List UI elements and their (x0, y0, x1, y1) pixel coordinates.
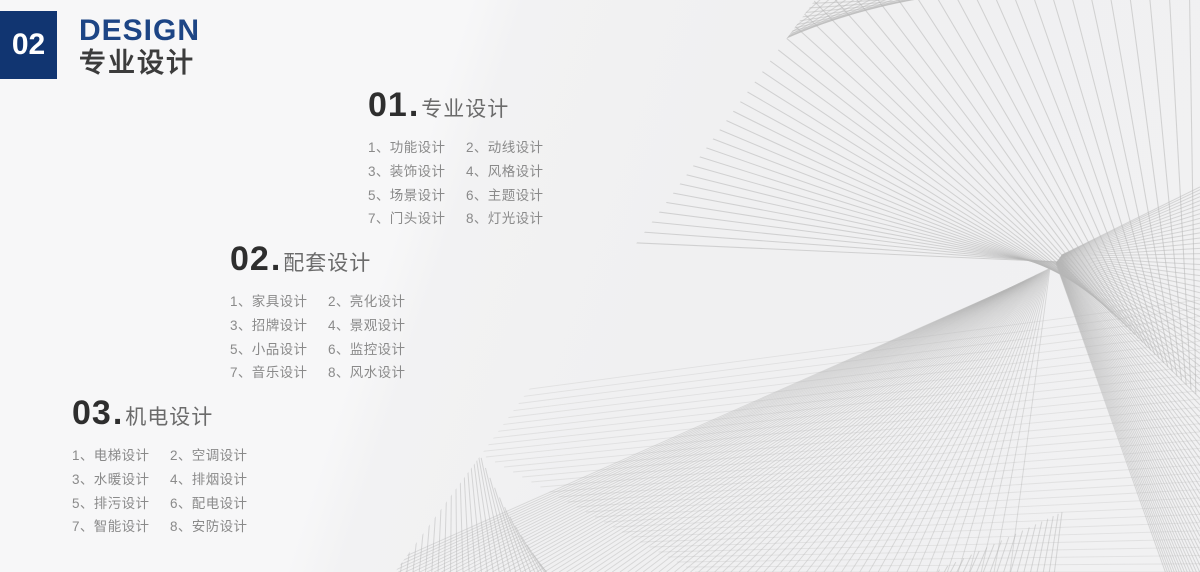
section-03-item-list: 1、电梯设计 2、空调设计 3、水暖设计 4、排烟设计 5、排污设计 6、配电设… (72, 444, 247, 539)
list-item: 5、场景设计 6、主题设计 (368, 184, 543, 208)
section-01-item-list: 1、功能设计 2、动线设计 3、装饰设计 4、风格设计 5、场景设计 6、主题设… (368, 136, 543, 231)
list-item-cell: 4、景观设计 (328, 314, 405, 338)
list-item-cell: 5、排污设计 (72, 492, 170, 516)
section-02-item-list: 1、家具设计 2、亮化设计 3、招牌设计 4、景观设计 5、小品设计 6、监控设… (230, 290, 405, 385)
list-item-cell: 1、电梯设计 (72, 444, 170, 468)
list-item-cell: 8、风水设计 (328, 361, 405, 385)
list-item-cell: 4、风格设计 (466, 160, 543, 184)
section-02-title: 配套设计 (283, 253, 371, 274)
list-item-cell: 7、智能设计 (72, 515, 170, 539)
list-item: 1、电梯设计 2、空调设计 (72, 444, 247, 468)
section-number-badge-label: 02 (12, 30, 45, 60)
slide-root: 02 DESIGN 专业设计 01 . 专业设计 1、功能设计 2、动线设计 3… (0, 0, 1200, 572)
list-item: 7、音乐设计 8、风水设计 (230, 361, 405, 385)
page-title-cn: 专业设计 (79, 48, 200, 78)
list-item-cell: 7、门头设计 (368, 207, 466, 231)
section-02-heading: 02 . 配套设计 (230, 242, 405, 276)
list-item-cell: 5、场景设计 (368, 184, 466, 208)
list-item: 3、装饰设计 4、风格设计 (368, 160, 543, 184)
list-item-cell: 8、安防设计 (170, 515, 247, 539)
section-block-03: 03 . 机电设计 1、电梯设计 2、空调设计 3、水暖设计 4、排烟设计 5、… (72, 396, 247, 539)
section-01-title: 专业设计 (421, 99, 509, 120)
list-item-cell: 4、排烟设计 (170, 468, 247, 492)
list-item: 3、招牌设计 4、景观设计 (230, 314, 405, 338)
section-01-dot: . (409, 88, 418, 122)
section-03-dot: . (113, 396, 122, 430)
list-item-cell: 7、音乐设计 (230, 361, 328, 385)
list-item-cell: 3、招牌设计 (230, 314, 328, 338)
list-item-cell: 6、配电设计 (170, 492, 247, 516)
list-item-cell: 2、空调设计 (170, 444, 247, 468)
list-item-cell: 8、灯光设计 (466, 207, 543, 231)
list-item-cell: 2、动线设计 (466, 136, 543, 160)
section-03-title: 机电设计 (125, 407, 213, 428)
list-item-cell: 5、小品设计 (230, 338, 328, 362)
list-item-cell: 1、家具设计 (230, 290, 328, 314)
section-02-dot: . (271, 242, 280, 276)
section-01-number: 01 (368, 88, 408, 122)
header-title-group: DESIGN 专业设计 (79, 11, 200, 78)
section-03-heading: 03 . 机电设计 (72, 396, 247, 430)
list-item: 7、门头设计 8、灯光设计 (368, 207, 543, 231)
list-item-cell: 3、装饰设计 (368, 160, 466, 184)
list-item-cell: 3、水暖设计 (72, 468, 170, 492)
list-item: 5、小品设计 6、监控设计 (230, 338, 405, 362)
list-item-cell: 6、主题设计 (466, 184, 543, 208)
section-02-number: 02 (230, 242, 270, 276)
section-block-02: 02 . 配套设计 1、家具设计 2、亮化设计 3、招牌设计 4、景观设计 5、… (230, 242, 405, 385)
list-item: 7、智能设计 8、安防设计 (72, 515, 247, 539)
list-item-cell: 1、功能设计 (368, 136, 466, 160)
list-item-cell: 6、监控设计 (328, 338, 405, 362)
page-title-en: DESIGN (79, 16, 200, 47)
list-item: 1、功能设计 2、动线设计 (368, 136, 543, 160)
list-item: 1、家具设计 2、亮化设计 (230, 290, 405, 314)
section-block-01: 01 . 专业设计 1、功能设计 2、动线设计 3、装饰设计 4、风格设计 5、… (368, 88, 543, 231)
list-item-cell: 2、亮化设计 (328, 290, 405, 314)
list-item: 5、排污设计 6、配电设计 (72, 492, 247, 516)
section-01-heading: 01 . 专业设计 (368, 88, 543, 122)
list-item: 3、水暖设计 4、排烟设计 (72, 468, 247, 492)
section-03-number: 03 (72, 396, 112, 430)
section-number-badge: 02 (0, 11, 57, 79)
slide-header: 02 DESIGN 专业设计 (0, 11, 200, 79)
